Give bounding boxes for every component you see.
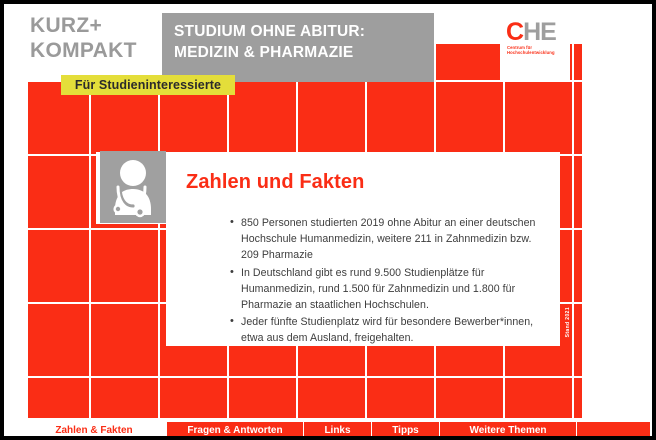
grid-tile	[22, 304, 89, 376]
che-logo-he: HE	[523, 18, 556, 46]
che-logo-subtitle: Centrum für Hochschulentwicklung	[504, 45, 568, 55]
bottom-tab-bar[interactable]: Zahlen & FaktenFragen & AntwortenLinksTi…	[22, 422, 650, 436]
grid-tile	[505, 82, 572, 154]
fact-item: Jeder fünfte Studienplatz wird für beson…	[230, 314, 548, 346]
grid-tile	[298, 82, 365, 154]
grid-tile	[91, 304, 158, 376]
fact-item: 850 Personen studierten 2019 ohne Abitur…	[230, 215, 548, 264]
doctor-stethoscope-icon	[100, 151, 166, 223]
tab-zahlen-fakten[interactable]: Zahlen & Fakten	[22, 422, 167, 436]
tab-empty	[577, 422, 650, 436]
tab-links[interactable]: Links	[304, 422, 372, 436]
grid-tile	[229, 82, 296, 154]
poster-frame: KURZ+ KOMPAKT STUDIUM OHNE ABITUR: MEDIZ…	[0, 0, 656, 440]
knockout-right	[582, 4, 652, 436]
grid-tile	[367, 82, 434, 154]
tab-tipps[interactable]: Tipps	[372, 422, 440, 436]
brand-kurz-kompakt: KURZ+ KOMPAKT	[30, 13, 158, 63]
grid-tile	[91, 230, 158, 302]
che-logo-c: C	[506, 18, 523, 46]
grid-tile	[22, 156, 89, 228]
section-heading: Zahlen und Fakten	[186, 171, 364, 194]
tab-fragen-antworten[interactable]: Fragen & Antworten	[167, 422, 304, 436]
audience-badge: Für Studieninteressierte	[61, 75, 235, 95]
facts-list: 850 Personen studierten 2019 ohne Abitur…	[230, 215, 548, 348]
page-title: STUDIUM OHNE ABITUR: MEDIZIN & PHARMAZIE	[162, 13, 434, 82]
tab-weitere-themen[interactable]: Weitere Themen	[440, 422, 577, 436]
che-logo: CHE Centrum für Hochschulentwicklung	[504, 19, 568, 77]
grid-tile	[22, 230, 89, 302]
poster-stage: KURZ+ KOMPAKT STUDIUM OHNE ABITUR: MEDIZ…	[4, 4, 652, 436]
che-logo-wordmark: CHE	[504, 19, 568, 45]
grid-tile	[436, 82, 503, 154]
edge-date-note: Stand 2021	[565, 307, 571, 337]
fact-item: In Deutschland gibt es rund 9.500 Studie…	[230, 265, 548, 314]
